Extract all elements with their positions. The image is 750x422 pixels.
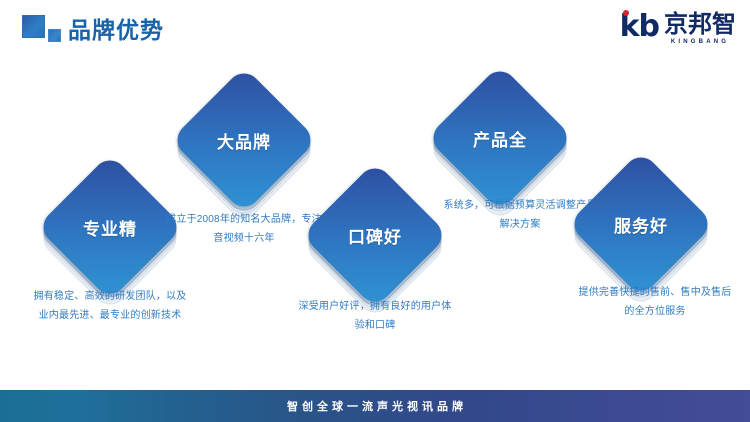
- diamond-shape: [170, 66, 317, 213]
- advantage-diamond-3[interactable]: 口碑好: [323, 183, 427, 287]
- advantage-diamond-4[interactable]: 产品全: [448, 86, 552, 190]
- advantage-desc-1: 拥有稳定、高效的研发团队，以及业内最先进、最专业的创新技术: [30, 287, 190, 325]
- advantage-desc-2: 成立于2008年的知名大品牌，专注音视频十六年: [164, 210, 324, 248]
- advantages-diagram: 专业精 拥有稳定、高效的研发团队，以及业内最先进、最专业的创新技术 大品牌 成立…: [0, 0, 750, 392]
- advantage-diamond-2[interactable]: 大品牌: [192, 88, 296, 192]
- diamond-shape: [36, 153, 183, 300]
- advantage-desc-3: 深受用户好评，拥有良好的用户体验和口碑: [295, 297, 455, 335]
- diamond-shape: [426, 64, 573, 211]
- slide-canvas: 品牌优势 kb 京邦智 KINGBANG 专业精 拥有稳定、高效的研发团队，以及…: [0, 0, 750, 422]
- footer-slogan: 智创全球一流声光视讯品牌: [283, 398, 467, 414]
- diamond-shape: [301, 161, 448, 308]
- slide-footer: 智创全球一流声光视讯品牌: [0, 390, 750, 422]
- advantage-desc-5: 提供完善快捷的售前、售中及售后的全方位服务: [575, 283, 735, 321]
- advantage-diamond-5[interactable]: 服务好: [589, 172, 693, 276]
- diamond-shape: [567, 150, 714, 297]
- advantage-diamond-1[interactable]: 专业精: [58, 175, 162, 279]
